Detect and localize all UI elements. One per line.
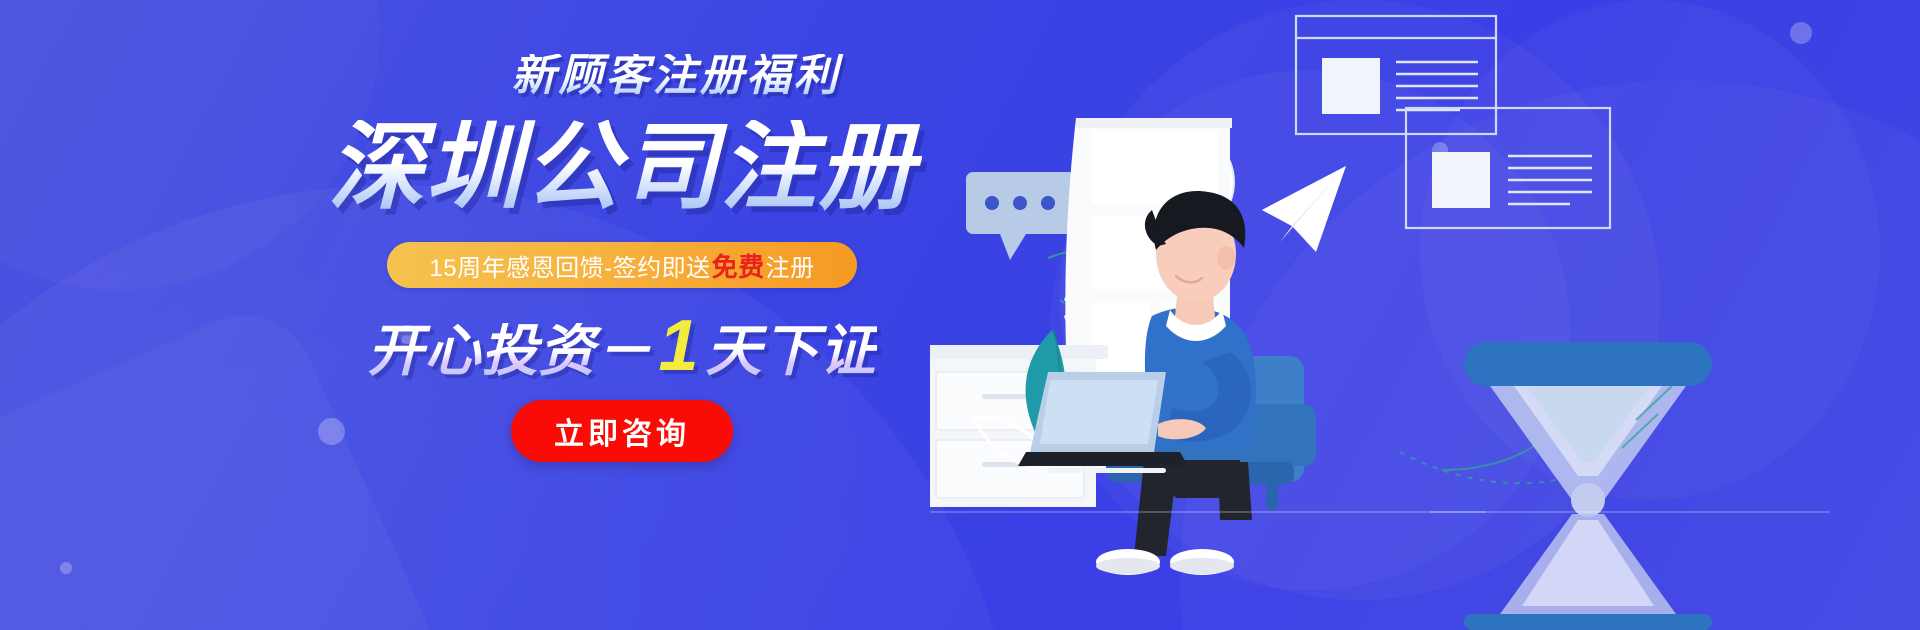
- document-card-small-thumbnail: [1432, 152, 1490, 208]
- promo-banner: 新顾客注册福利 深圳公司注册 15周年感恩回馈-签约即送免费注册 开心投资－1天…: [0, 0, 1920, 630]
- hero-illustration: [930, 0, 1920, 630]
- decorative-dot: [60, 562, 72, 574]
- promo-suffix: 注册: [766, 248, 815, 283]
- promo-badge-text: 15周年感恩回馈-签约即送免费注册: [429, 247, 814, 284]
- promo-badge: 15周年感恩回馈-签约即送免费注册: [387, 242, 857, 288]
- document-card-thumbnail: [1322, 58, 1380, 114]
- subheadline-number: 1: [652, 310, 705, 382]
- consult-now-button[interactable]: 立即咨询: [511, 400, 733, 462]
- page-title: 深圳公司注册: [322, 120, 922, 216]
- subheadline-before: 开心投资－: [367, 323, 652, 379]
- banner-copy: 新顾客注册福利 深圳公司注册 15周年感恩回馈-签约即送免费注册 开心投资－1天…: [322, 54, 922, 462]
- promo-highlight: 免费: [711, 247, 766, 284]
- promo-prefix: 15周年感恩回馈-签约即送: [429, 248, 710, 283]
- subheadline: 开心投资－1天下证: [322, 310, 922, 382]
- eyebrow-text: 新顾客注册福利: [430, 54, 922, 98]
- subheadline-after: 天下证: [706, 323, 877, 379]
- chat-bubble-icon: [966, 172, 1076, 260]
- cta-container: 立即咨询: [322, 400, 922, 462]
